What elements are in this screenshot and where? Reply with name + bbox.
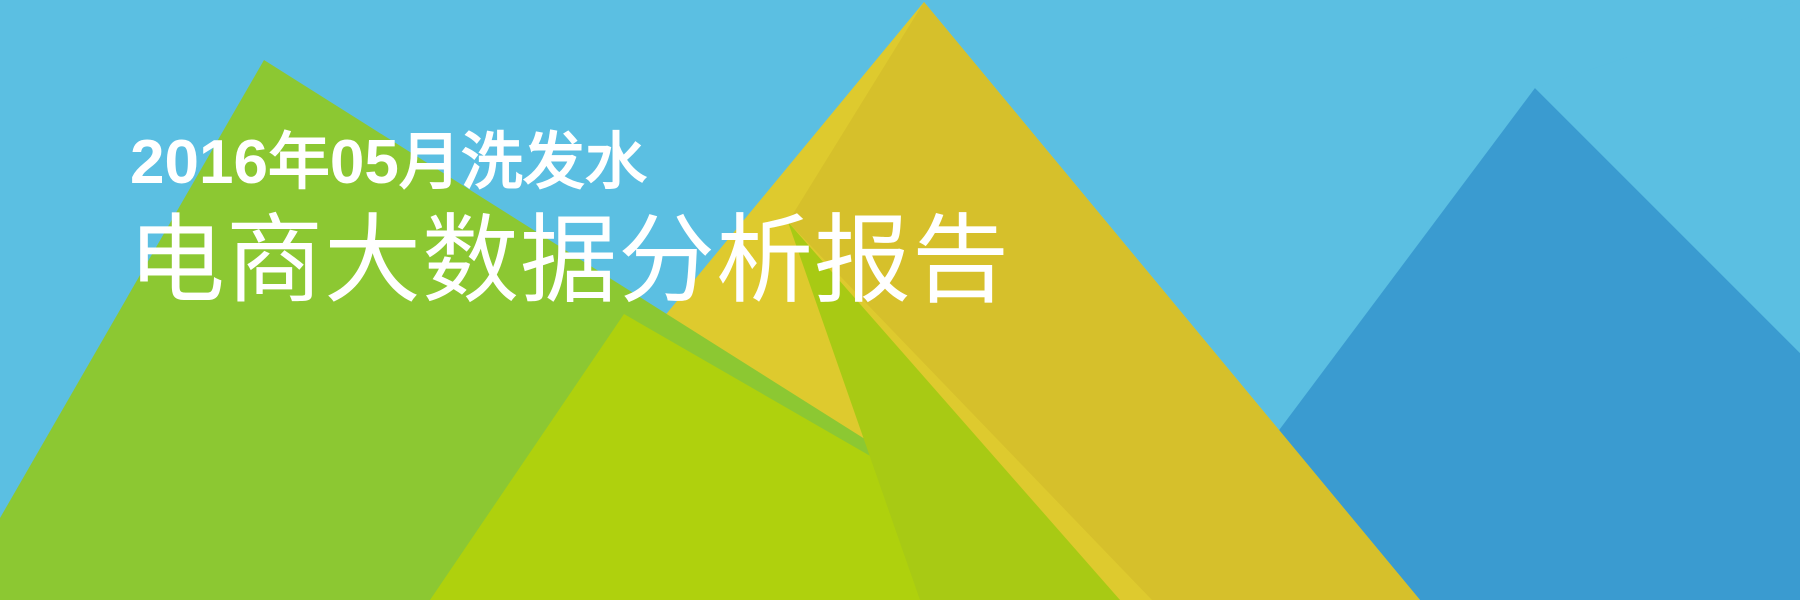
report-cover-banner: 2016年05月洗发水 电商大数据分析报告 xyxy=(0,0,1800,600)
decorative-geometric-background xyxy=(0,0,1800,600)
